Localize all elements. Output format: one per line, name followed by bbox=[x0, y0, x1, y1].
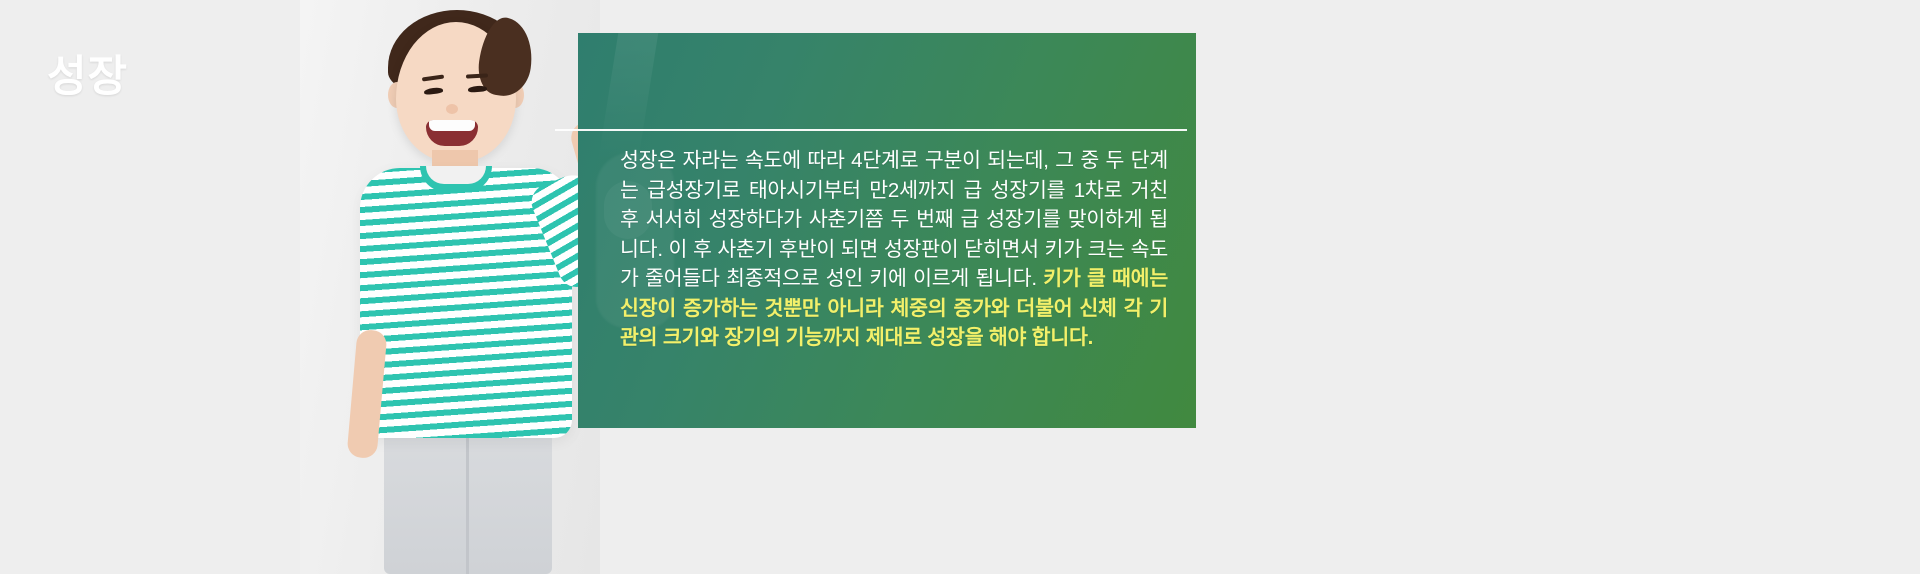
pants-seam bbox=[466, 430, 469, 574]
page-root: 성장 성장은 자라는 속도에 따라 4단계로 구분이 되는데, 그 중 두 단계… bbox=[0, 0, 1920, 574]
teeth bbox=[429, 120, 475, 131]
title-divider bbox=[555, 129, 1187, 131]
shirt-collar-inner bbox=[426, 166, 486, 184]
mouth bbox=[426, 120, 478, 146]
body-paragraph: 성장은 자라는 속도에 따라 4단계로 구분이 되는데, 그 중 두 단계는 급… bbox=[620, 146, 1168, 353]
boy-photo bbox=[300, 0, 600, 574]
nose bbox=[446, 104, 458, 114]
page-title: 성장 bbox=[47, 56, 128, 99]
panel-light-streak bbox=[598, 33, 659, 163]
